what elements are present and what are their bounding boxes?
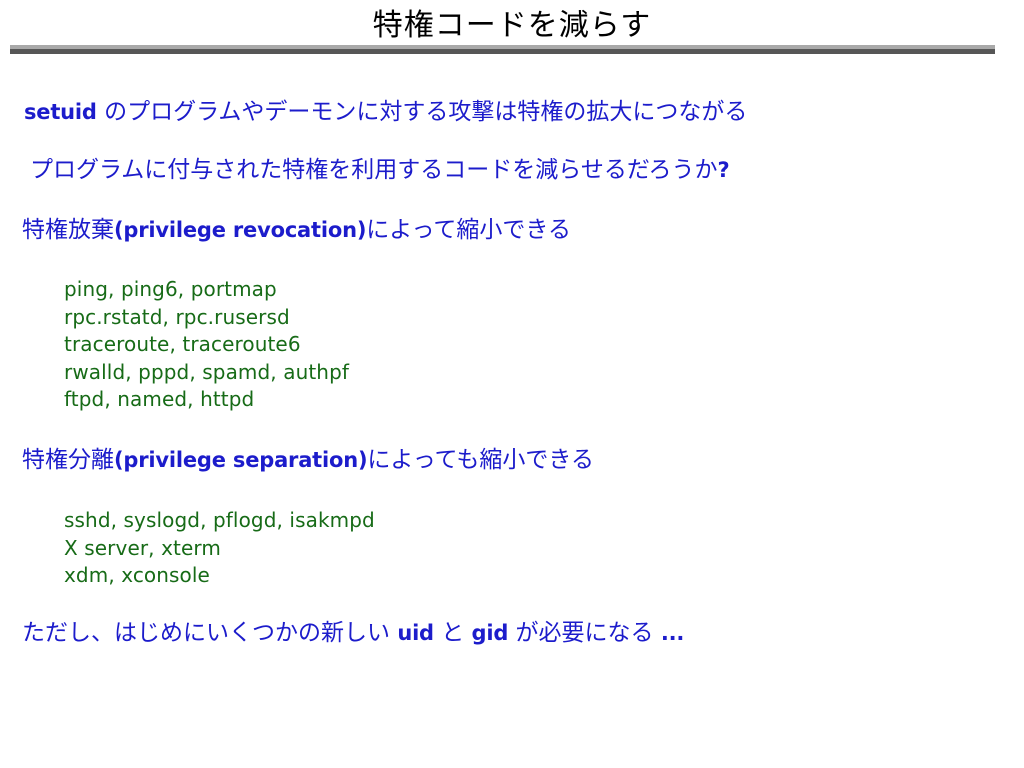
heading-separation-lead: 特権分離 [22, 447, 114, 473]
statement-setuid-attack: setuid のプログラムやデーモンに対する攻撃は特権の拡大につながる [24, 98, 747, 126]
list-item: ftpd, named, httpd [64, 386, 349, 414]
caveat-ellipsis: ... [661, 621, 684, 645]
heading-revocation-tail: によって縮小できる [366, 217, 571, 243]
heading-separation-latin: (privilege separation) [114, 448, 367, 472]
question-text: プログラムに付与された特権を利用するコードを減らせるだろうか [30, 157, 717, 183]
separation-example-list: sshd, syslogd, pflogd, isakmpd X server,… [64, 507, 375, 590]
question-reduce-privileged-code: プログラムに付与された特権を利用するコードを減らせるだろうか? [30, 156, 729, 184]
heading-revocation-latin: (privilege revocation) [114, 218, 366, 242]
slide-body: setuid のプログラムやデーモンに対する攻撃は特権の拡大につながる プログラ… [0, 54, 1024, 768]
slide-title: 特権コードを減らす [0, 8, 1024, 44]
heading-revocation-lead: 特権放棄 [22, 217, 114, 243]
caveat-lead: ただし、はじめにいくつかの新しい [22, 620, 397, 646]
list-item: rwalld, pppd, spamd, authpf [64, 359, 349, 387]
heading-privilege-revocation: 特権放棄(privilege revocation)によって縮小できる [22, 216, 571, 244]
list-item: ping, ping6, portmap [64, 276, 349, 304]
term-setuid: setuid [24, 100, 97, 124]
list-item: traceroute, traceroute6 [64, 331, 349, 359]
list-item: sshd, syslogd, pflogd, isakmpd [64, 507, 375, 535]
slide-root: 特権コードを減らす setuid のプログラムやデーモンに対する攻撃は特権の拡大… [0, 0, 1024, 768]
term-uid: uid [397, 621, 434, 645]
list-item: rpc.rstatd, rpc.rusersd [64, 304, 349, 332]
statement-setuid-attack-text: のプログラムやデーモンに対する攻撃は特権の拡大につながる [97, 99, 748, 125]
list-item: X server, xterm [64, 535, 375, 563]
caveat-tail: が必要になる [508, 620, 661, 646]
heading-privilege-separation: 特権分離(privilege separation)によっても縮小できる [22, 446, 594, 474]
title-divider-rule [10, 45, 995, 54]
heading-separation-tail: によっても縮小できる [367, 447, 594, 473]
list-item: xdm, xconsole [64, 562, 375, 590]
term-gid: gid [472, 621, 509, 645]
caveat-conjunction: と [434, 620, 472, 646]
caveat-new-uid-gid: ただし、はじめにいくつかの新しい uid と gid が必要になる ... [22, 619, 684, 647]
revocation-example-list: ping, ping6, portmap rpc.rstatd, rpc.rus… [64, 276, 349, 414]
question-mark: ? [717, 158, 729, 182]
